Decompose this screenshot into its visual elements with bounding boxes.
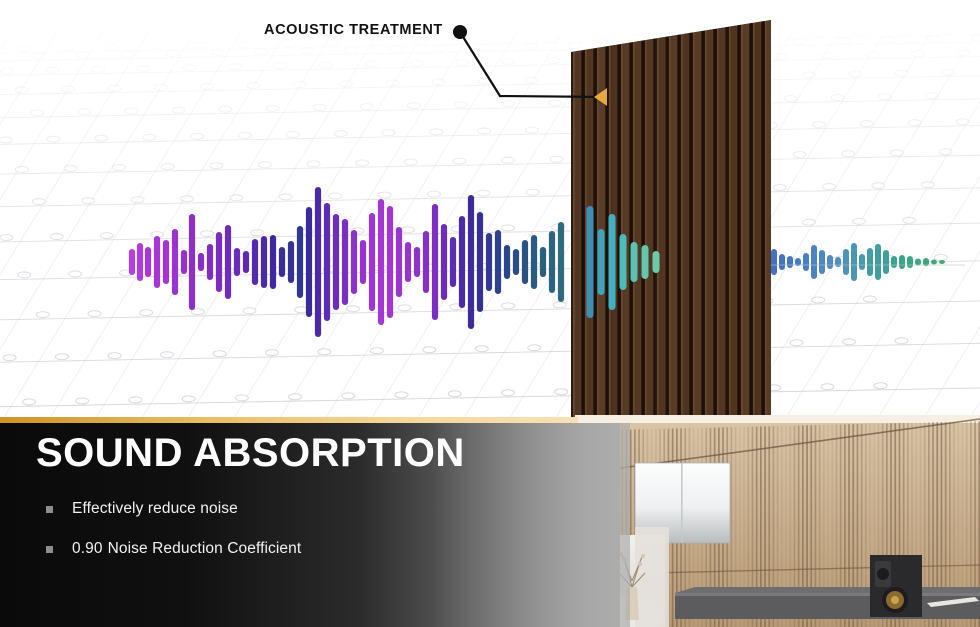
gold-triangle-pointer-icon xyxy=(594,88,607,106)
nrc-value: 0.90 xyxy=(72,540,103,557)
square-bullet-icon xyxy=(46,546,53,553)
feature-list: Effectively reduce noise 0.90Noise Reduc… xyxy=(46,500,301,580)
list-item: Effectively reduce noise xyxy=(46,500,301,518)
interior-svg xyxy=(575,415,980,627)
leader-line xyxy=(440,20,640,130)
nrc-value-label: 0.90Noise Reduction Coefficient xyxy=(72,540,301,558)
annotation-label: ACOUSTIC TREATMENT xyxy=(264,22,443,38)
list-item-label: Effectively reduce noise xyxy=(72,500,238,518)
square-bullet-icon xyxy=(46,506,53,513)
list-item: 0.90Noise Reduction Coefficient xyxy=(46,540,301,558)
interior-room-scene xyxy=(575,415,980,627)
page-title: SOUND ABSORPTION xyxy=(36,433,465,473)
infographic-canvas: ACOUSTIC TREATMENT xyxy=(0,0,980,627)
leader-dot-icon xyxy=(453,25,467,39)
nrc-text: Noise Reduction Coefficient xyxy=(108,540,302,557)
